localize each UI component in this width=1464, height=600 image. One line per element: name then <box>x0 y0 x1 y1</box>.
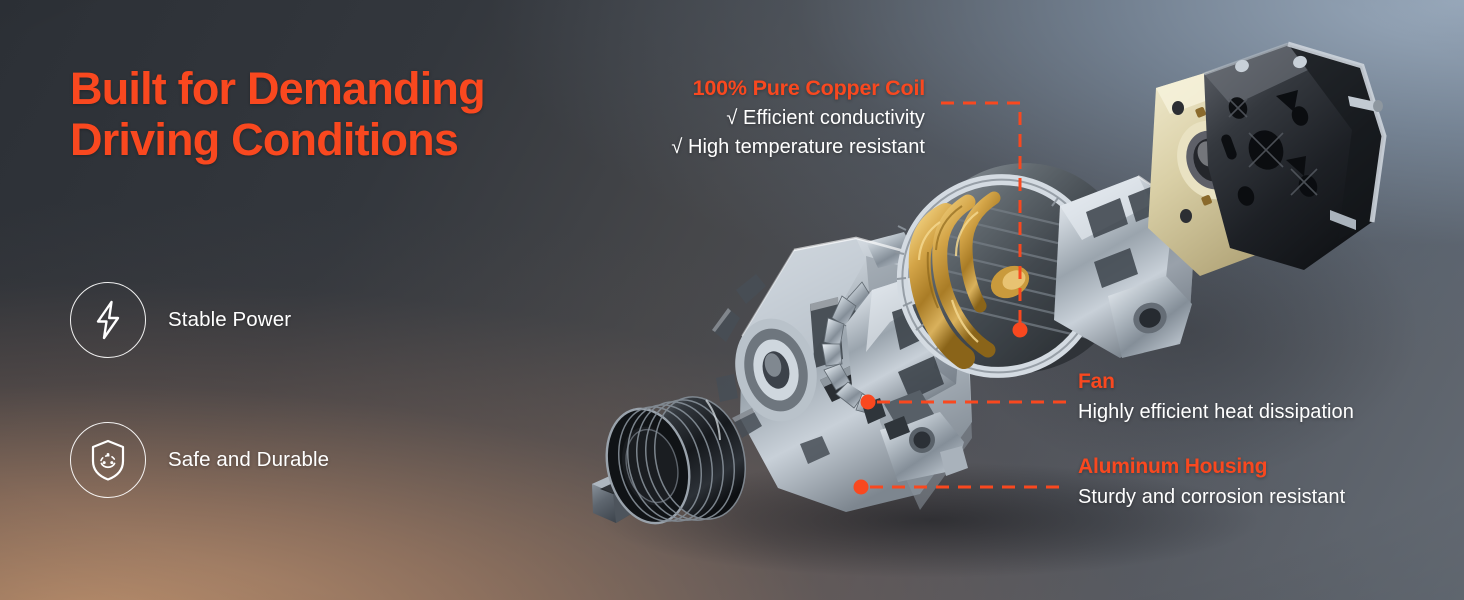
feature-badge-label: Safe and Durable <box>168 448 329 472</box>
callout-bullet: √ Efficient conductivity <box>525 107 925 130</box>
lightning-bolt-icon <box>91 300 125 340</box>
callout-bullet: √ High temperature resistant <box>525 136 925 159</box>
shield-check-icon <box>88 438 128 482</box>
callout-title: Fan <box>1078 370 1354 394</box>
callout-fan: Fan Highly efficient heat dissipation <box>1078 370 1354 424</box>
callout-subtitle: Sturdy and corrosion resistant <box>1078 486 1345 509</box>
badge-ring <box>70 282 146 358</box>
page-title: Built for Demanding Driving Conditions <box>70 64 485 166</box>
callout-title: Aluminum Housing <box>1078 455 1345 479</box>
product-feature-banner: Built for Demanding Driving Conditions S… <box>0 0 1464 600</box>
feature-badge-label: Stable Power <box>168 308 291 332</box>
badge-ring <box>70 422 146 498</box>
callout-copper-coil: 100% Pure Copper Coil √ Efficient conduc… <box>525 76 925 159</box>
callout-title: 100% Pure Copper Coil <box>525 76 925 101</box>
feature-badge-stable-power: Stable Power <box>70 282 291 358</box>
callout-aluminum-housing: Aluminum Housing Sturdy and corrosion re… <box>1078 455 1345 509</box>
callout-subtitle: Highly efficient heat dissipation <box>1078 401 1354 424</box>
feature-badge-safe-and-durable: Safe and Durable <box>70 422 329 498</box>
